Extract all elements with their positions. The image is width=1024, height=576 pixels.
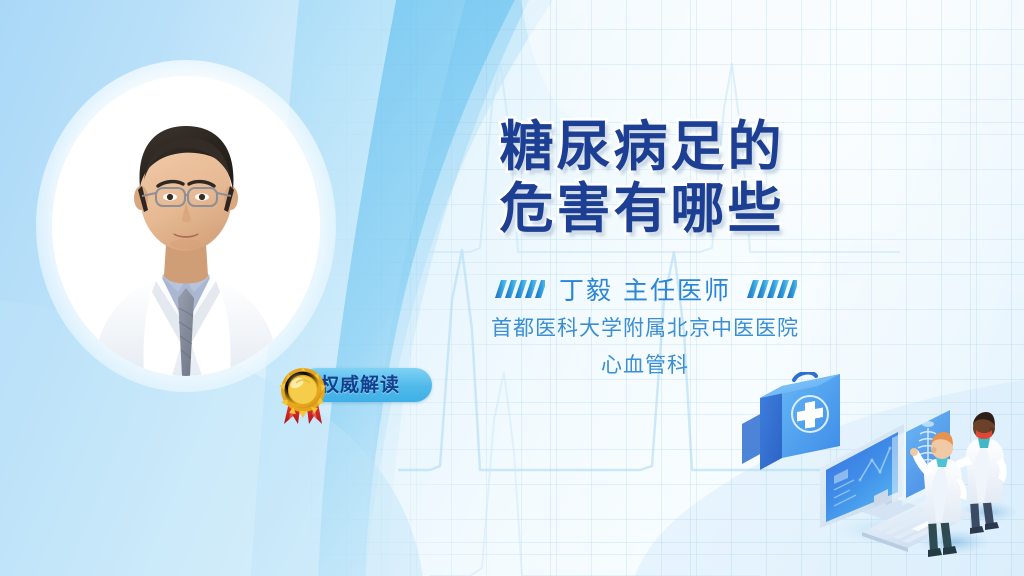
slash-ornament-right-icon: [745, 278, 797, 300]
video-cover-canvas: 权威解读: [0, 0, 1024, 576]
portrait-circle-frame: [52, 76, 320, 376]
medical-bag-icon: [742, 373, 840, 470]
page-title: 糖尿病足的 危害有哪些: [470, 116, 814, 240]
doctor-row: 丁毅 主任医师: [430, 272, 860, 306]
doctor-name-title: 丁毅 主任医师: [559, 271, 731, 307]
isometric-medical-scene: [742, 372, 1024, 576]
gold-medal-icon: [272, 366, 334, 424]
authority-badge: 权威解读: [272, 366, 432, 406]
credits-block: 丁毅 主任医师 首都医科大学附属北京中医医院 心血管科: [430, 272, 860, 379]
portrait-figure-icon: [52, 76, 320, 376]
doctor-portrait: [52, 76, 320, 376]
badge-label: 权威解读: [320, 374, 430, 396]
title-line-1: 糖尿病足的: [470, 116, 814, 178]
hospital-name: 首都医科大学附属北京中医医院: [430, 312, 860, 342]
slash-ornament-left-icon: [493, 278, 545, 300]
title-line-2: 危害有哪些: [470, 178, 814, 240]
